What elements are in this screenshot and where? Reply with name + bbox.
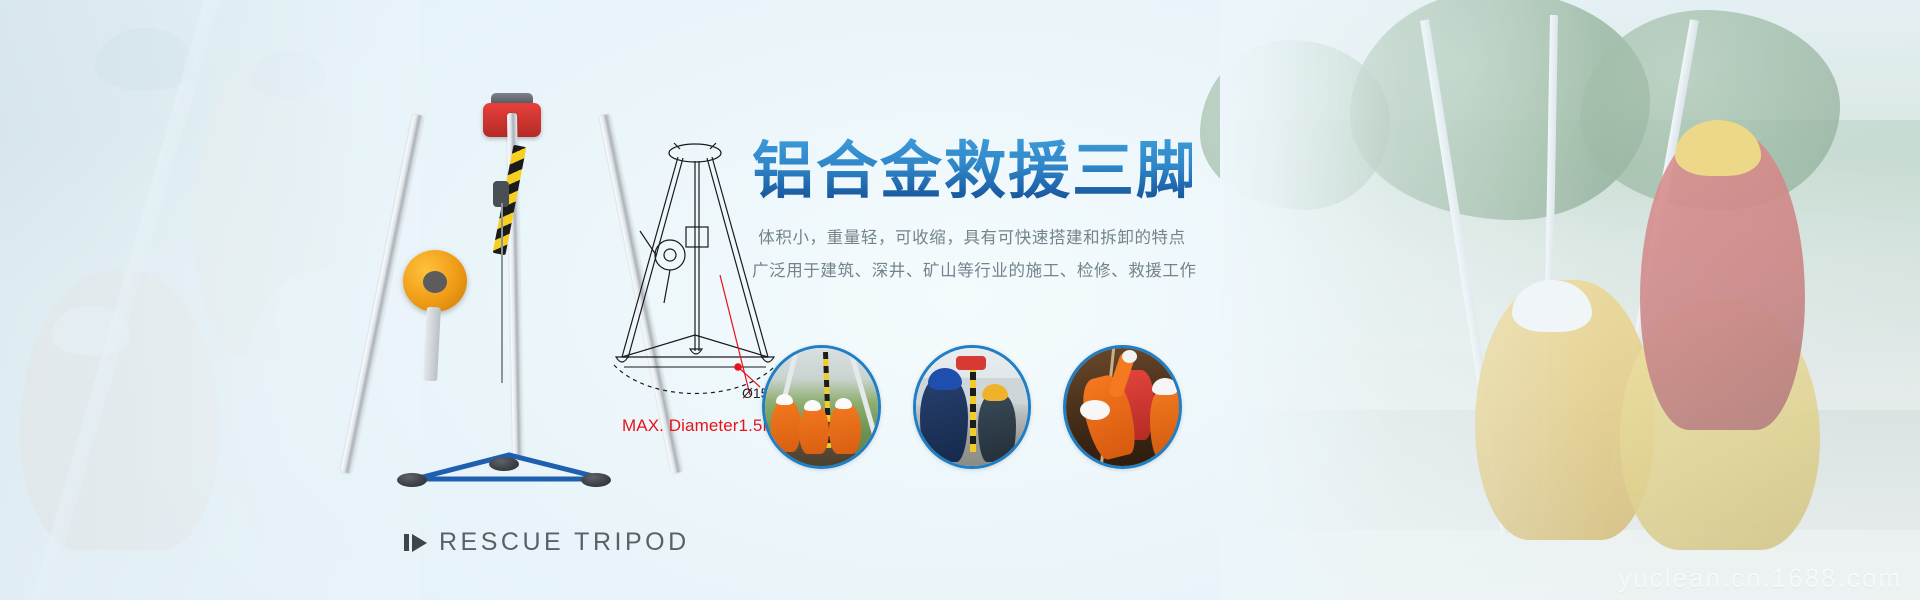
product-banner: yuclean.cn.1688.com RESCUE TRIPOD [0, 0, 1920, 600]
product-caption: RESCUE TRIPOD [404, 528, 690, 557]
photo-circle-field-well-rescue-drill[interactable] [762, 345, 881, 469]
copy-block: 铝合金救援三脚架 体积小，重量轻，可收缩，具有可快速搭建和拆卸的特点 广泛用于建… [752, 138, 1192, 287]
rescuer [829, 404, 861, 454]
photo-circle-yard-equipment-inspection[interactable] [913, 345, 1032, 469]
helmet [928, 368, 962, 390]
helmet [804, 400, 821, 411]
glove [1122, 350, 1137, 363]
helmet [1152, 378, 1178, 395]
fade-overlay [1220, 0, 1920, 600]
page-title: 铝合金救援三脚架 [752, 138, 1192, 205]
winch-mount [423, 307, 441, 382]
rope [501, 203, 503, 383]
diagram-max-diameter-note: MAX. Diameter1.5M [622, 416, 762, 436]
tripod-foot [489, 457, 519, 471]
tripod-foot [397, 473, 427, 487]
rescuer [771, 400, 801, 452]
play-marker-icon [404, 534, 427, 552]
rescuer [1150, 388, 1182, 458]
scene [916, 348, 1029, 466]
fade-overlay [0, 0, 420, 600]
rescuer [799, 406, 829, 454]
photo-circle-confined-space-rescue[interactable] [1063, 345, 1182, 469]
application-photo-strip [762, 345, 1182, 469]
base-strap-svg [393, 437, 625, 507]
helmet [835, 398, 852, 409]
left-photo-firefighters-assembling-tripod [0, 0, 420, 600]
scene [1066, 348, 1179, 466]
product-photo-rescue-tripod [385, 85, 635, 505]
base-strap [393, 437, 625, 507]
tripod-leg [970, 356, 976, 452]
subtitle-line-1: 体积小，重量轻，可收缩，具有可快速搭建和拆卸的特点 [752, 221, 1192, 254]
helmet [982, 384, 1008, 401]
right-photo-rescue-team-on-site [1220, 0, 1920, 600]
tripod-head [956, 356, 986, 370]
helmet [776, 394, 793, 405]
worker [978, 394, 1016, 462]
scene [765, 348, 878, 466]
tripod-foot [581, 473, 611, 487]
product-caption-text: RESCUE TRIPOD [439, 528, 690, 557]
worker [920, 378, 968, 462]
winch-hub [423, 271, 447, 293]
subtitle-line-2: 广泛用于建筑、深井、矿山等行业的施工、检修、救援工作 [752, 254, 1192, 287]
